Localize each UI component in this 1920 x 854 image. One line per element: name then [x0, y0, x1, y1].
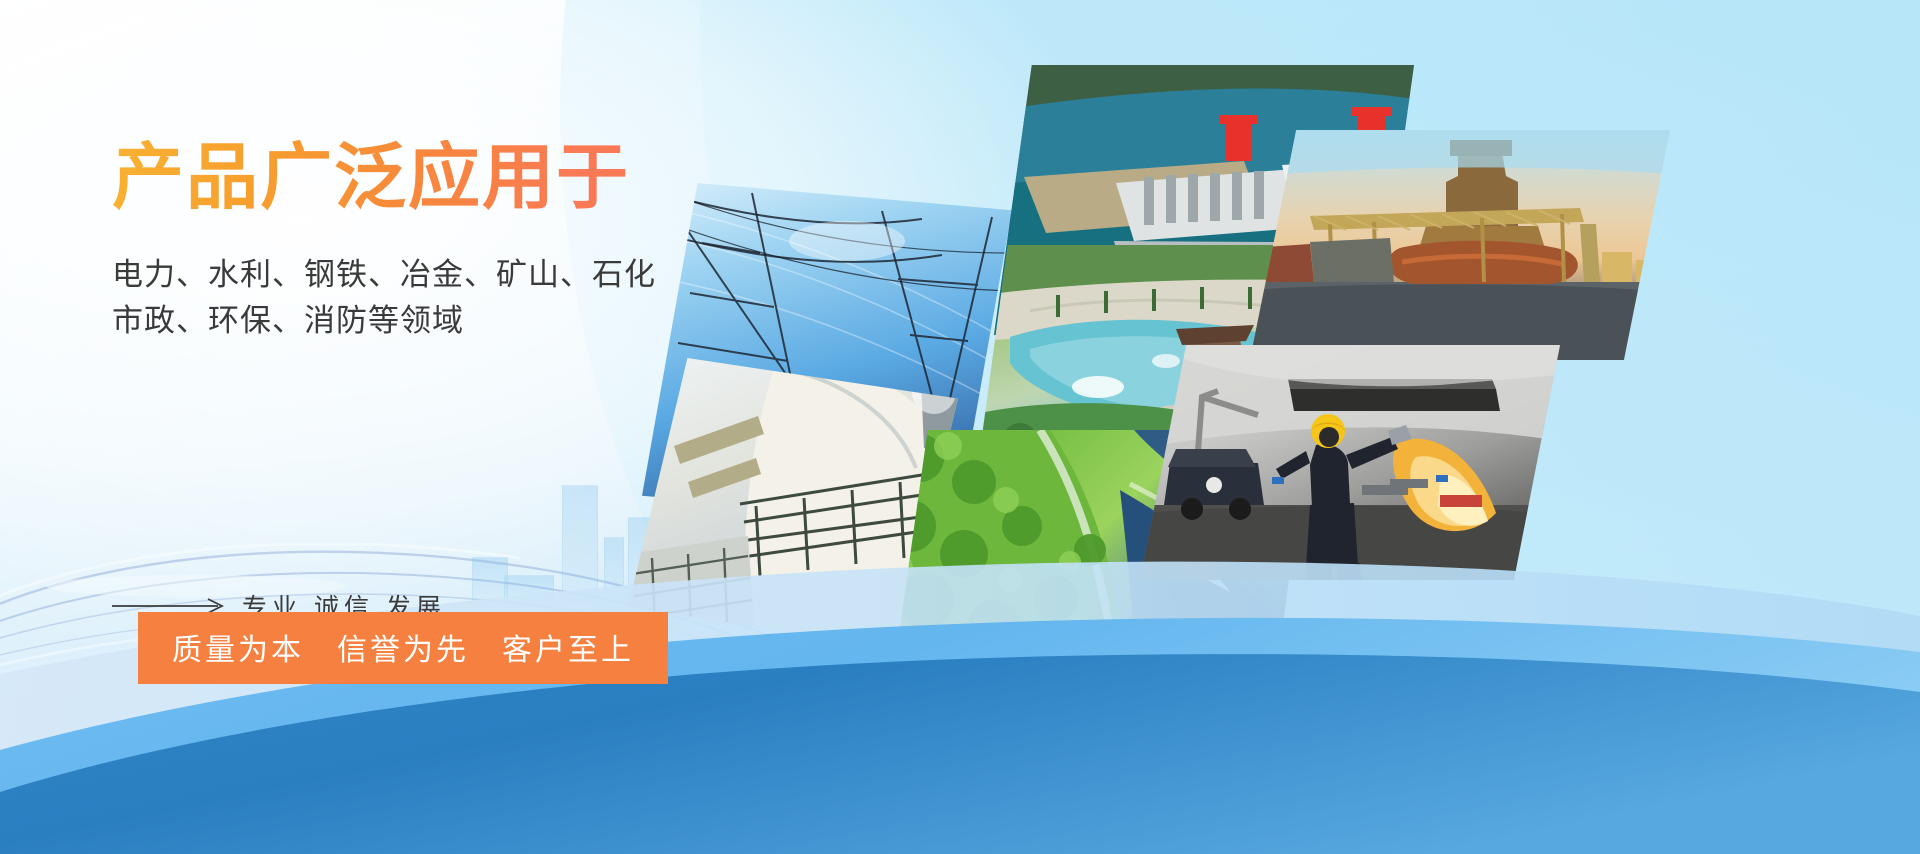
quality-badge: 质量为本 信誉为先 客户至上	[138, 612, 668, 684]
blast-furnace-icon	[1250, 130, 1670, 360]
photo-steel-metallurgy-plant	[1250, 130, 1670, 360]
firefighter-icon	[1140, 345, 1560, 580]
quality-badge-text: 质量为本 信誉为先 客户至上	[172, 634, 634, 667]
subtitle: 电力、水利、钢铁、冶金、矿山、石化 市政、环保、消防等领域	[112, 252, 752, 345]
subtitle-line-2: 市政、环保、消防等领域	[112, 298, 752, 345]
subtitle-line-1: 电力、水利、钢铁、冶金、矿山、石化	[112, 257, 656, 292]
promotional-banner: 产品广泛应用于 电力、水利、钢铁、冶金、矿山、石化 市政、环保、消防等领域 专业…	[0, 0, 1920, 854]
photo-firefighter-rescue	[1140, 345, 1560, 580]
headline-block: 产品广泛应用于 电力、水利、钢铁、冶金、矿山、石化 市政、环保、消防等领域	[112, 140, 752, 345]
industry-photo-collage	[600, 0, 1920, 700]
page-title: 产品广泛应用于	[112, 140, 752, 218]
